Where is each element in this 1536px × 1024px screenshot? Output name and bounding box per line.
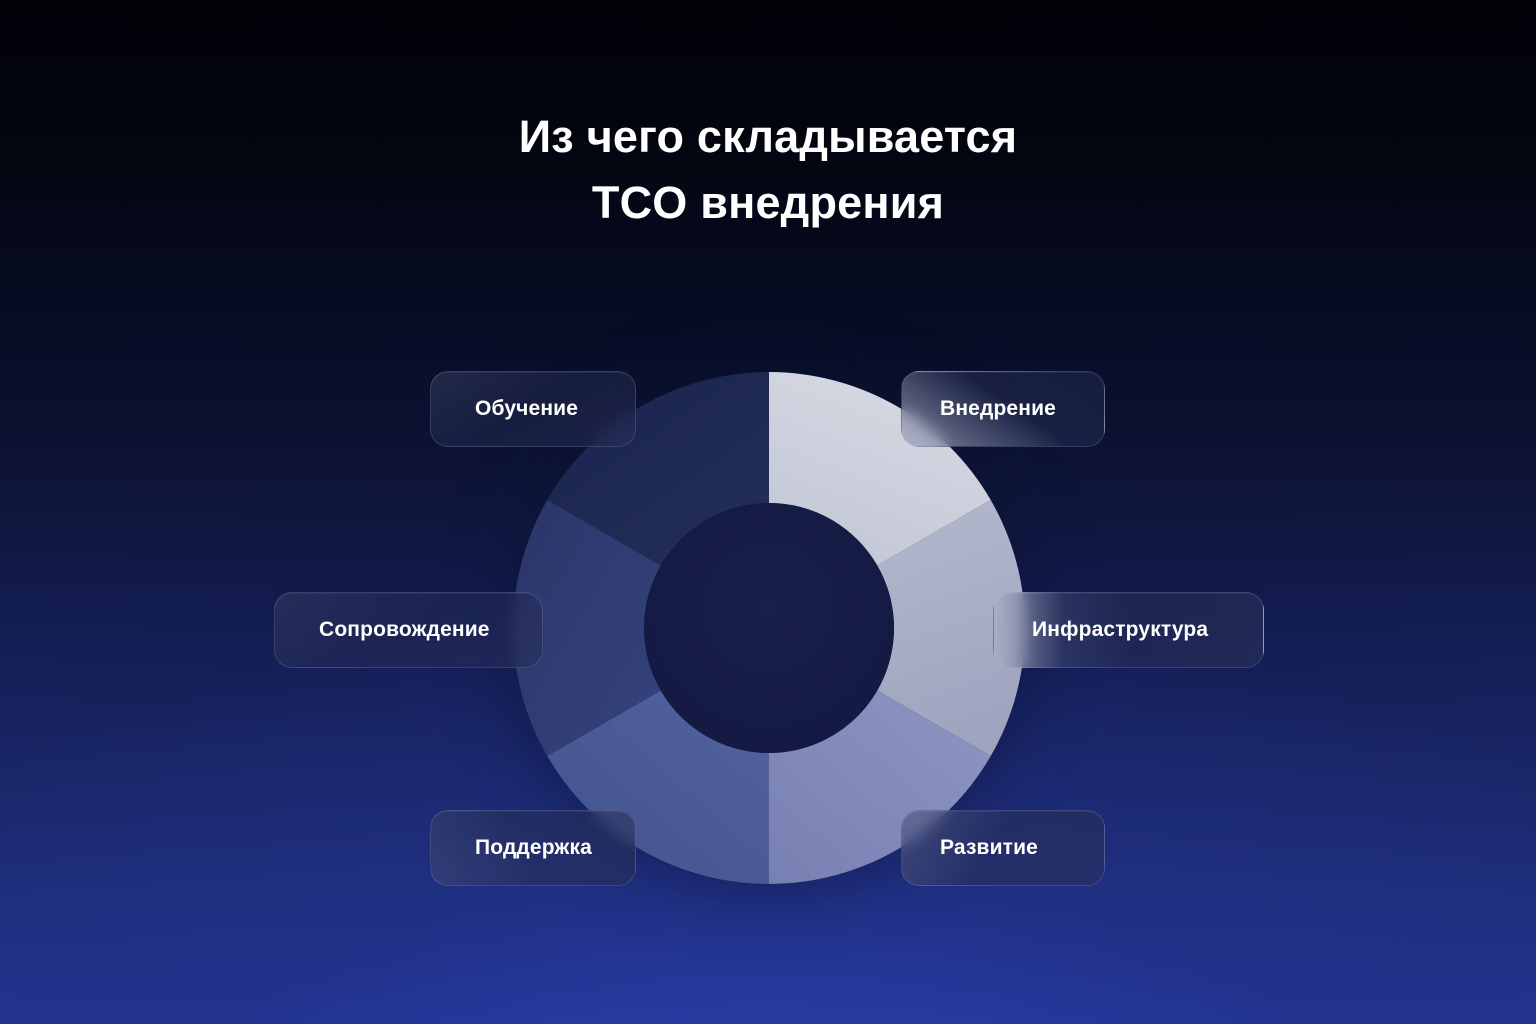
label-card-infrastruktura[interactable]: Инфраструктура [993, 592, 1264, 668]
label-card-vnedrenie[interactable]: Внедрение [901, 371, 1105, 447]
title-line-2: TCO внедрения [0, 170, 1536, 236]
donut-center-hole [644, 503, 894, 753]
slide-canvas: Из чего складывается TCO внедрения [0, 0, 1536, 1024]
label-card-razvitie-text: Развитие [940, 836, 1038, 860]
label-card-podderzhka-text: Поддержка [475, 836, 592, 860]
title-line-1: Из чего складывается [0, 104, 1536, 170]
label-card-infrastruktura-text: Инфраструктура [1032, 618, 1208, 642]
label-card-soprovozhdenie-text: Сопровождение [319, 618, 490, 642]
page-title: Из чего складывается TCO внедрения [0, 104, 1536, 236]
label-card-vnedrenie-text: Внедрение [940, 397, 1056, 421]
label-card-soprovozhdenie[interactable]: Сопровождение [274, 592, 543, 668]
label-card-podderzhka[interactable]: Поддержка [430, 810, 636, 886]
label-card-obuchenie[interactable]: Обучение [430, 371, 636, 447]
label-card-razvitie[interactable]: Развитие [901, 810, 1105, 886]
label-card-obuchenie-text: Обучение [475, 397, 578, 421]
